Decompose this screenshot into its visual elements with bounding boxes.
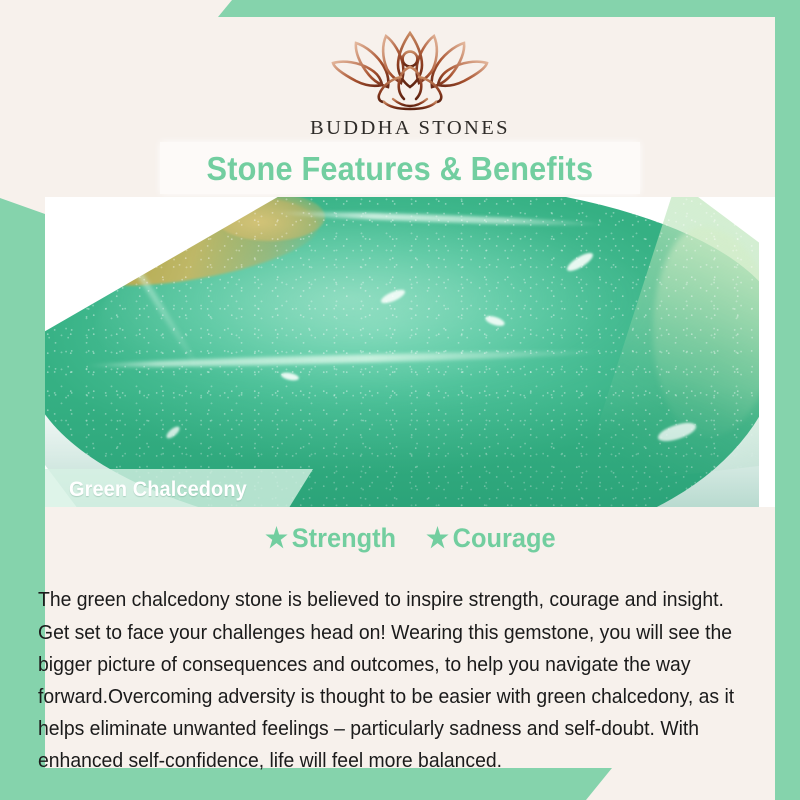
benefit-tag-list: ★ Strength ★ Courage [45,507,775,552]
description-paragraph: The green chalcedony stone is believed t… [38,584,743,777]
stone-name-label: Green Chalcedony [69,478,247,502]
benefit-label: Strength [291,525,395,552]
stone-photo: Green Chalcedony [45,197,775,507]
photo-backdrop-right [759,197,775,507]
benefit-tag-courage: ★ Courage [426,525,555,552]
lotus-meditation-icon [325,29,495,115]
decorative-strip-right [775,0,800,800]
benefit-label: Courage [452,525,555,552]
brand-logo: BUDDHA STONES [45,17,775,140]
decorative-strip-top [218,0,800,17]
stone-benefits-poster: BUDDHA STONES Stone Features & Benefits [0,0,800,800]
benefits-section: ★ Strength ★ Courage [45,507,775,552]
stone-name-band: Green Chalcedony [45,469,313,507]
star-icon: ★ [426,525,449,552]
benefit-tag-strength: ★ Strength [265,525,396,552]
title-banner: Stone Features & Benefits [160,142,640,194]
page-title: Stone Features & Benefits [207,152,594,185]
poster-card: BUDDHA STONES Stone Features & Benefits [45,17,775,768]
brand-wordmark: BUDDHA STONES [45,117,775,140]
star-icon: ★ [265,525,288,552]
